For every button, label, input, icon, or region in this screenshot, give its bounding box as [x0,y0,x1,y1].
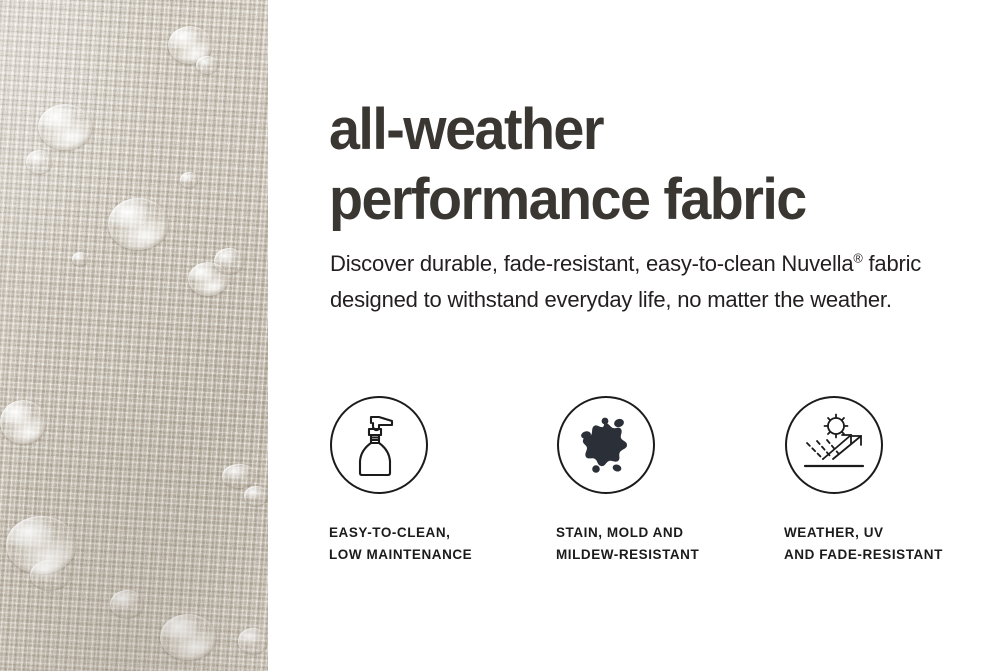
fabric-shading-overlay [0,0,268,671]
feature-label: WEATHER, UV AND FADE-RESISTANT [784,522,943,566]
spray-bottle-icon [330,396,428,494]
feature-easy-to-clean: EASY-TO-CLEAN, LOW MAINTENANCE [329,396,556,566]
feature-list: EASY-TO-CLEAN, LOW MAINTENANCE STAIN, MO… [329,396,989,566]
page-title: all-weather performance fabric [329,95,963,235]
feature-label: EASY-TO-CLEAN, LOW MAINTENANCE [329,522,472,566]
registered-mark: ® [853,251,862,266]
fabric-photo [0,0,268,671]
ink-splat-icon [557,396,655,494]
banner-content: all-weather performance fabric Discover … [329,0,989,671]
all-weather-fabric-banner: all-weather performance fabric Discover … [0,0,1005,671]
feature-stain-resistant: STAIN, MOLD AND MILDEW-RESISTANT [556,396,784,566]
feature-label: STAIN, MOLD AND MILDEW-RESISTANT [556,522,699,566]
subcopy: Discover durable, fade-resistant, easy-t… [330,246,970,318]
subcopy-prefix: Discover durable, fade-resistant, easy-t… [330,251,853,276]
feature-weather-uv-resistant: WEATHER, UV AND FADE-RESISTANT [784,396,989,566]
sun-uv-reflect-icon [785,396,883,494]
